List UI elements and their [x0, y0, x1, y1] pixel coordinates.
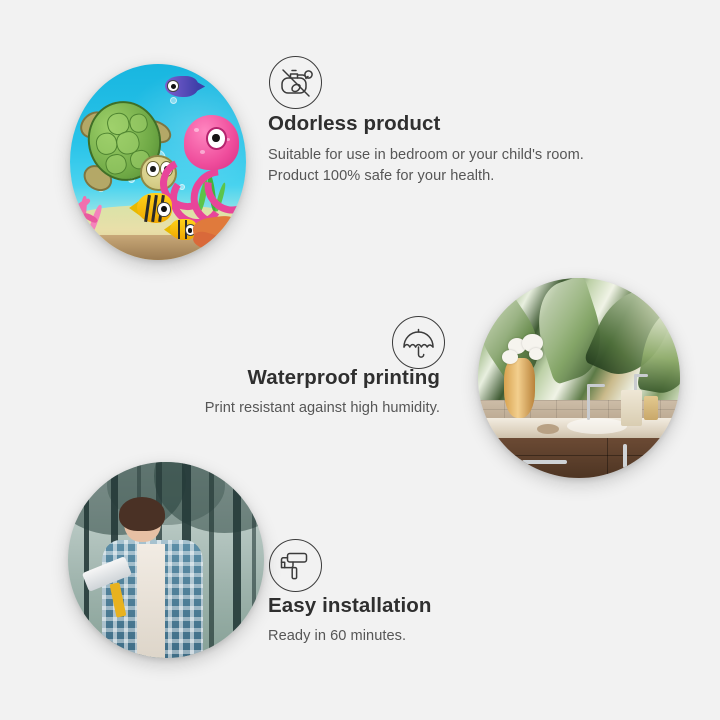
flower-vase [504, 358, 534, 418]
hand-towel [621, 390, 641, 426]
woman-with-paint-roller-forest-photo [68, 462, 264, 658]
feature-description: Suitable for use in bedroom or your chil… [268, 145, 608, 187]
hair [119, 497, 165, 531]
octopus-illustration [165, 115, 242, 209]
feature-waterproof: Waterproof printing Print resistant agai… [120, 366, 440, 419]
cabinet-handle [656, 444, 660, 467]
faucet-icon [587, 384, 590, 420]
umbrella-icon [392, 316, 445, 369]
paint-roller-icon [269, 539, 322, 592]
inner-shirt [137, 544, 166, 658]
sink-basin [567, 418, 628, 434]
turtle-eye [146, 161, 159, 177]
soap-dish [537, 424, 559, 434]
vanity-cabinet [478, 438, 680, 478]
flower-icon [529, 348, 543, 360]
bathroom-tropical-wallpaper-photo [478, 278, 680, 478]
faucet-icon [634, 374, 648, 377]
tree-trunk [209, 462, 214, 658]
faucet-icon [587, 384, 605, 387]
octopus-head [184, 115, 240, 170]
feature-odorless: Odorless product Suitable for use in bed… [268, 112, 608, 187]
fish-illustration [165, 76, 198, 98]
fish-eye [167, 80, 179, 91]
woman-illustration [99, 501, 209, 658]
no-odor-perfume-icon [269, 56, 322, 109]
feature-description: Print resistant against high humidity. [120, 398, 440, 419]
cabinet-handle [623, 444, 627, 467]
cabinet-handle [522, 460, 566, 464]
octopus-eye [206, 127, 227, 150]
tree-trunk [252, 462, 256, 658]
feature-easy-installation: Easy installation Ready in 60 minutes. [268, 594, 588, 647]
tree-trunk [84, 462, 89, 658]
soap-dispenser [644, 396, 658, 420]
fish-eye [157, 202, 170, 216]
feature-description: Ready in 60 minutes. [268, 626, 588, 647]
tree-trunk [233, 462, 241, 658]
feature-title: Waterproof printing [120, 366, 440, 391]
coral-illustration [70, 189, 130, 252]
feature-title: Odorless product [268, 112, 608, 137]
feature-title: Easy installation [268, 594, 588, 619]
feature-highlights-banner: Odorless product Suitable for use in bed… [0, 0, 720, 720]
fish-illustration [137, 193, 172, 222]
underwater-cartoon-mural-photo [70, 64, 246, 260]
